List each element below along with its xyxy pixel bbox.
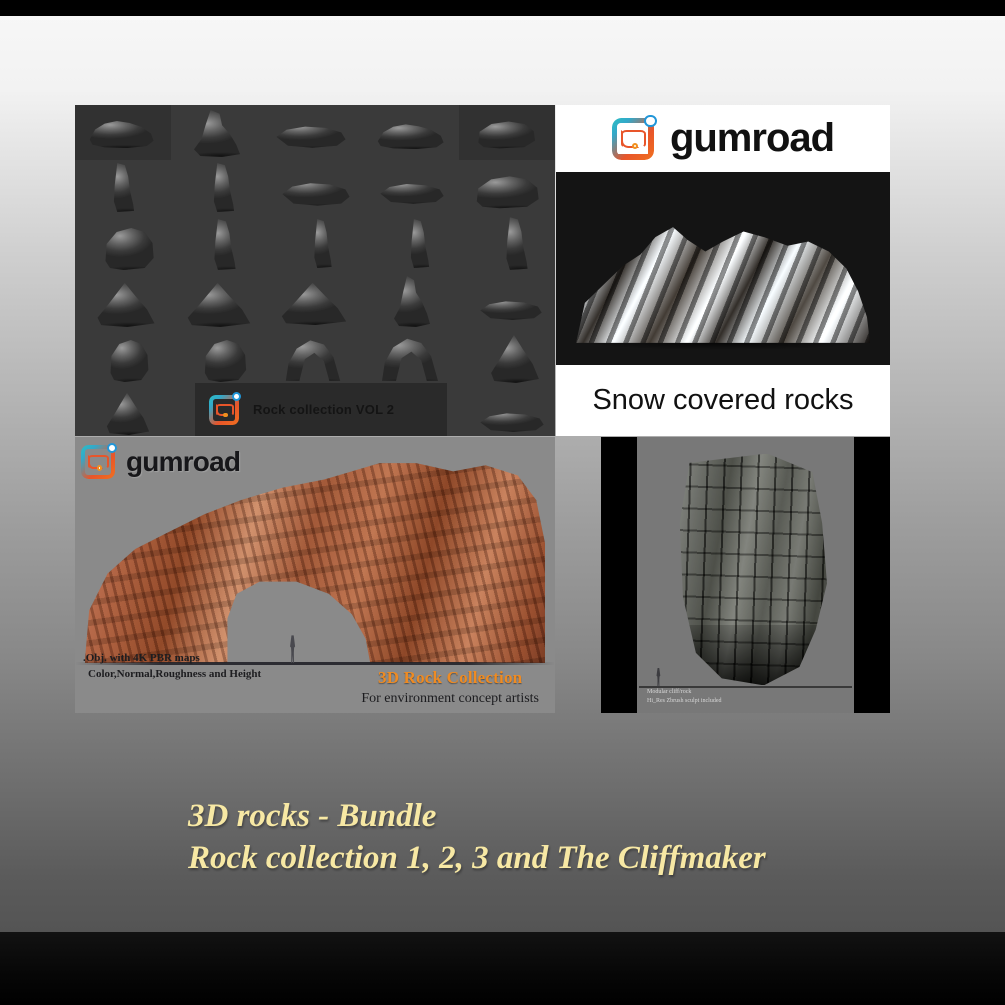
gumroad-logo-icon	[209, 395, 239, 425]
bundle-title: 3D rocks - Bundle Rock collection 1, 2, …	[188, 795, 908, 879]
snow-rock-shape	[576, 203, 870, 346]
human-scale-silhouette	[656, 668, 661, 687]
panel-3d-rock-collection[interactable]: gumroad .Obj. with 4K PBR maps Color,Nor…	[75, 437, 555, 713]
human-scale-silhouette	[289, 635, 296, 663]
collection-title: 3D Rock Collection	[361, 668, 539, 688]
collage-grid: Rock collection VOL 2 gumroad Snow cover…	[75, 105, 890, 713]
panel-snow-covered-rocks[interactable]: gumroad Snow covered rocks	[556, 105, 890, 436]
snow-rock-caption-text: Snow covered rocks	[592, 384, 853, 417]
collection-title-block: 3D Rock Collection For environment conce…	[361, 668, 539, 707]
gumroad-wordmark: gumroad	[670, 116, 834, 161]
cliff-rock-render	[673, 454, 835, 686]
panel-rock-collection-vol2[interactable]: Rock collection VOL 2	[75, 105, 555, 436]
gumroad-wordmark: gumroad	[126, 446, 240, 478]
cliff-caption: Modular cliff/rock Hi_Res Zbrush sculpt …	[647, 688, 722, 707]
cliff-caption-line-2: Hi_Res Zbrush sculpt included	[647, 697, 722, 707]
promo-collage-page: Rock collection VOL 2 gumroad Snow cover…	[0, 0, 1005, 1005]
cliff-caption-line-1: Modular cliff/rock	[647, 688, 722, 698]
letterbox-right	[854, 437, 890, 713]
bundle-title-line-1: 3D rocks - Bundle	[188, 795, 908, 837]
bottom-letterbox-bar	[0, 932, 1005, 1005]
bundle-title-line-2: Rock collection 1, 2, 3 and The Cliffmak…	[188, 837, 908, 879]
spec-text: .Obj. with 4K PBR maps Color,Normal,Roug…	[83, 651, 261, 683]
snow-rock-render	[556, 172, 890, 365]
panel-modular-cliff-rock[interactable]: Modular cliff/rock Hi_Res Zbrush sculpt …	[601, 437, 890, 713]
snow-rock-caption: Snow covered rocks	[556, 365, 890, 436]
gumroad-logo-icon	[612, 118, 654, 160]
top-letterbox-bar	[0, 0, 1005, 16]
vol2-banner-label: Rock collection VOL 2	[253, 402, 394, 417]
rock-arch-render	[85, 459, 546, 663]
gumroad-header: gumroad	[556, 105, 890, 172]
spec-line-1: .Obj. with 4K PBR maps	[83, 651, 261, 667]
collection-subtitle: For environment concept artists	[361, 691, 539, 707]
spec-line-2: Color,Normal,Roughness and Height	[83, 667, 261, 683]
gumroad-logo-icon	[81, 445, 115, 479]
gumroad-header: gumroad	[81, 445, 240, 479]
vol2-banner: Rock collection VOL 2	[195, 383, 447, 436]
letterbox-left	[601, 437, 637, 713]
